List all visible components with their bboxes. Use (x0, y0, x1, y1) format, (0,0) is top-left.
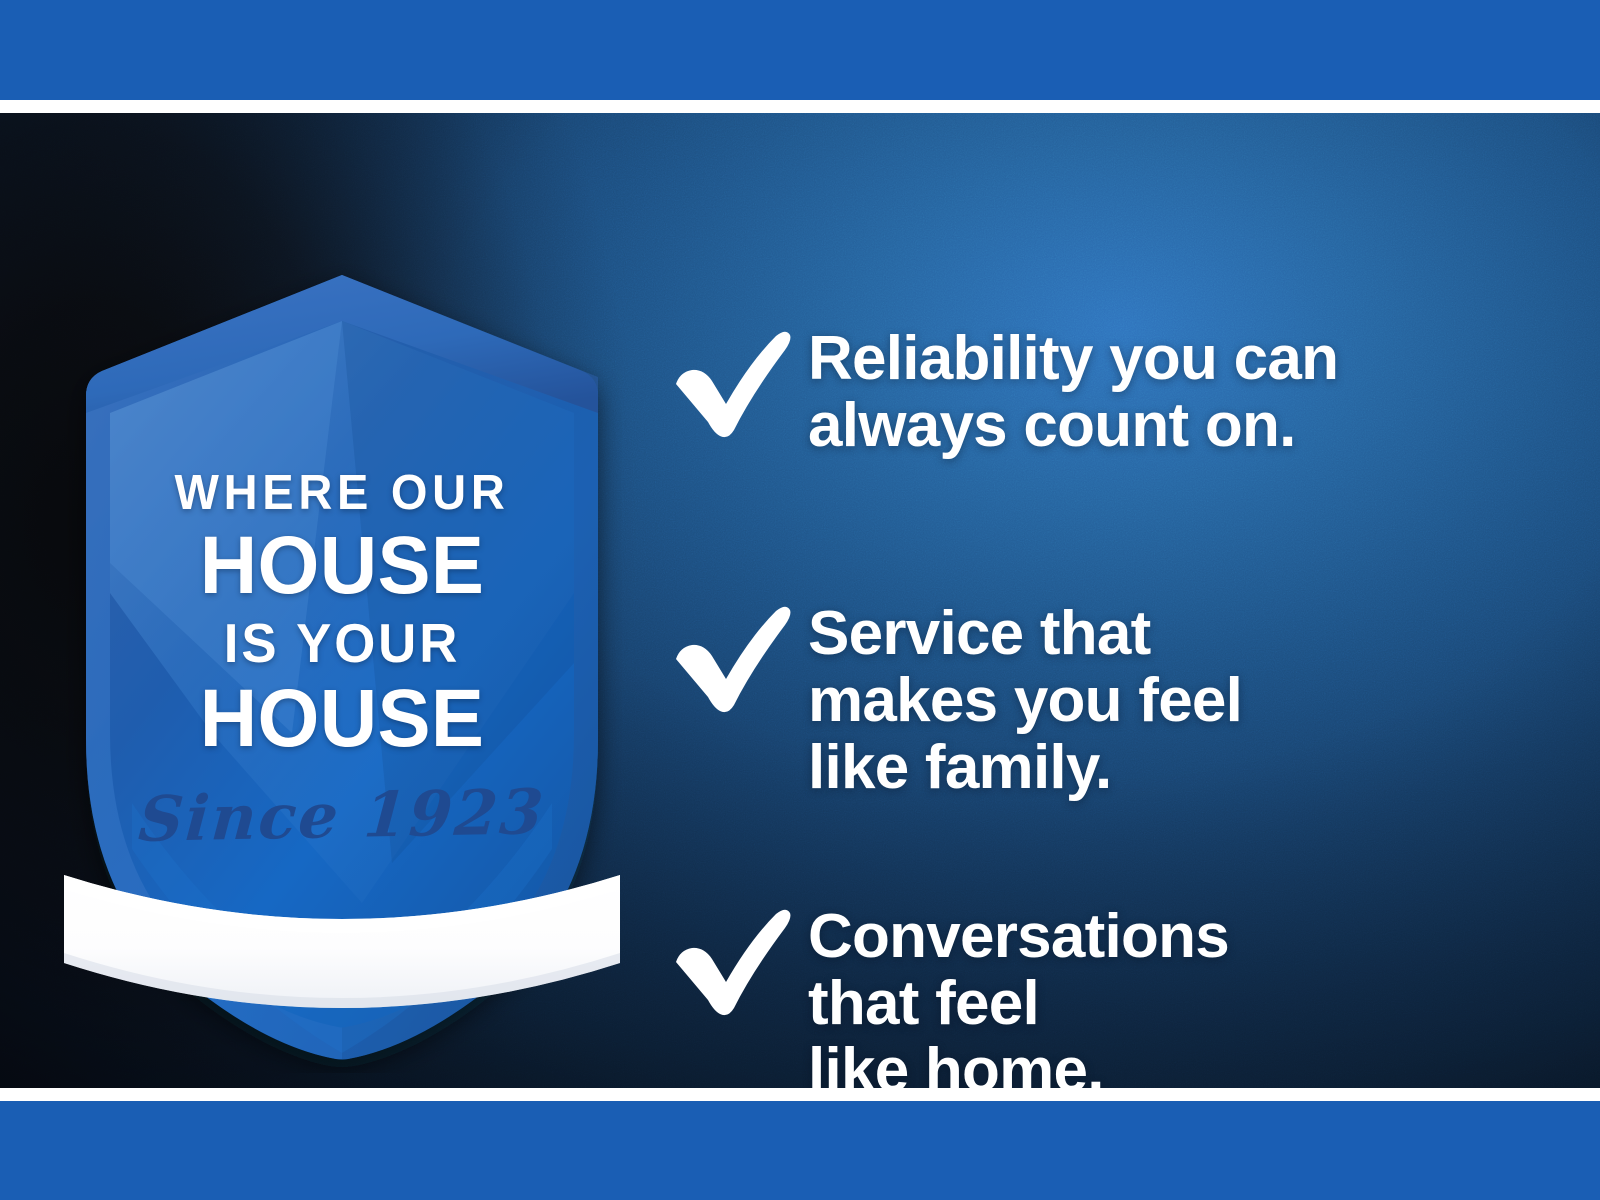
bottom-white-rule (0, 1088, 1600, 1101)
list-item-text: Conversations that feel like home. (808, 904, 1229, 1088)
shield-graphic (62, 263, 622, 1073)
list-item-text: Reliability you can always count on. (808, 326, 1338, 460)
value-prop-list: Reliability you can always count on. Ser… (664, 226, 1564, 1088)
checkmark-icon (664, 326, 794, 438)
list-item: Reliability you can always count on. (664, 326, 1338, 460)
main-canvas: WHERE OUR HOUSE IS YOUR HOUSE Since 1923… (0, 113, 1600, 1088)
brand-shield-logo: WHERE OUR HOUSE IS YOUR HOUSE Since 1923 (62, 263, 622, 1073)
checkmark-icon (664, 904, 794, 1016)
top-white-rule (0, 100, 1600, 113)
list-item-text: Service that makes you feel like family. (808, 601, 1242, 802)
bottom-accent-bar (0, 1101, 1600, 1200)
top-accent-bar (0, 0, 1600, 100)
list-item: Conversations that feel like home. (664, 904, 1229, 1088)
list-item: Service that makes you feel like family. (664, 601, 1242, 802)
promo-graphic: WHERE OUR HOUSE IS YOUR HOUSE Since 1923… (0, 0, 1600, 1200)
checkmark-icon (664, 601, 794, 713)
